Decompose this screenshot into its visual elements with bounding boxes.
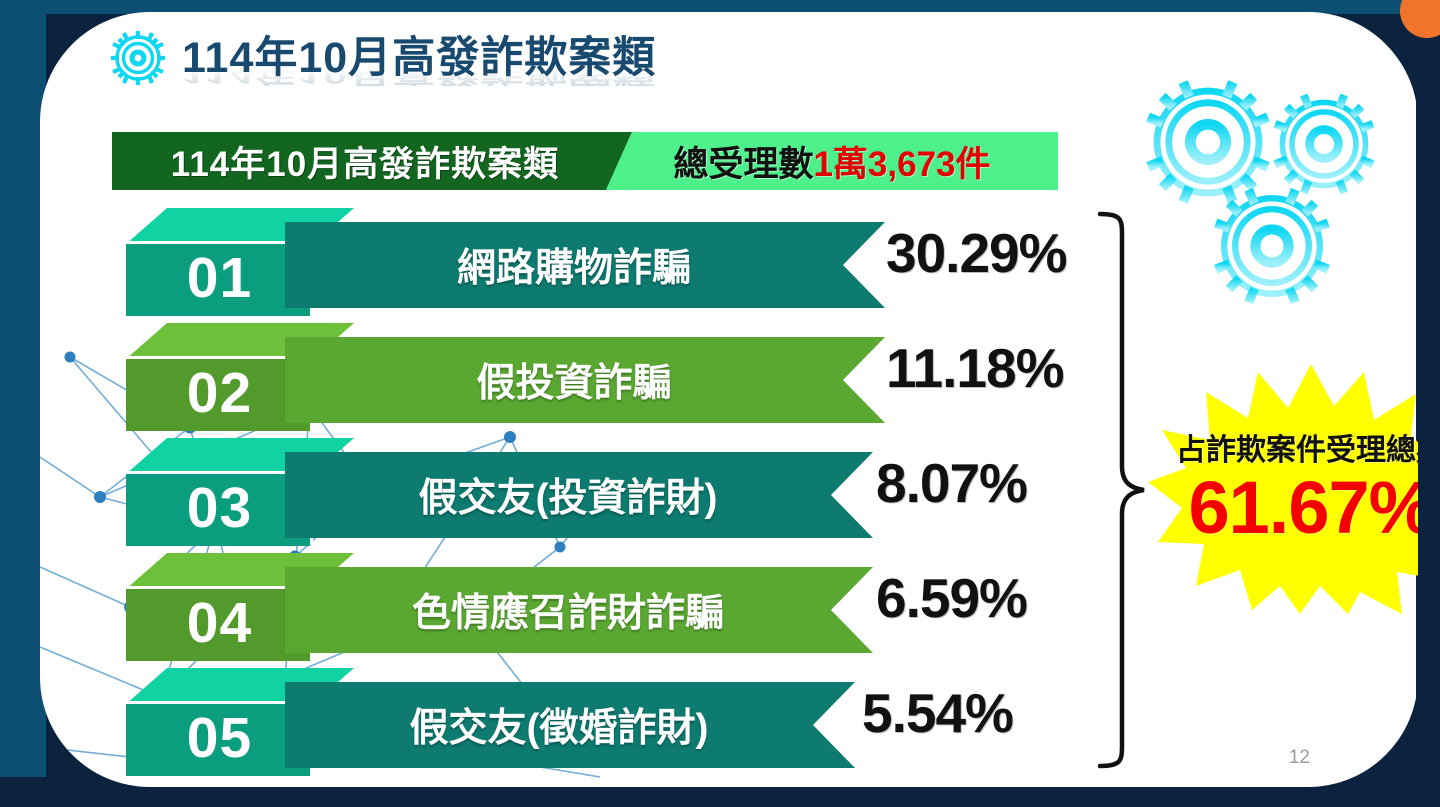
fraud-type-list: 01網路購物詐騙30.29%02假投資詐騙11.18%03假交友(投資詐財)8.… xyxy=(40,208,1160,783)
fraud-type-percent: 5.54% xyxy=(862,686,1013,741)
fraud-type-percent: 6.59% xyxy=(876,571,1027,626)
fraud-type-label: 假交友(投資詐財) xyxy=(419,467,718,523)
banner-left-label: 114年10月高發詐欺案類 xyxy=(171,136,573,187)
fraud-type-row[interactable]: 05假交友(徵婚詐財)5.54% xyxy=(40,668,1160,783)
banner-left-segment: 114年10月高發詐欺案類 xyxy=(112,132,632,190)
banner-total-label: 總受理數 xyxy=(673,136,813,187)
fraud-type-row[interactable]: 01網路購物詐騙30.29% xyxy=(40,208,1160,323)
fraud-type-label: 假投資詐騙 xyxy=(476,352,671,408)
rank-number: 03 xyxy=(126,471,313,546)
slide-card-inner: 114年10月高發詐欺案類 114年10月高發詐欺案類 114年10月高發詐欺案… xyxy=(40,12,1418,787)
summary-value: 61.67% xyxy=(1189,471,1419,545)
rank-number: 02 xyxy=(126,356,313,431)
summary-starburst: 占詐欺案件受理總數 61.67% xyxy=(1148,364,1418,614)
fraud-type-row[interactable]: 04色情應召詐財詐騙6.59% xyxy=(40,553,1160,668)
rank-number: 04 xyxy=(126,586,313,661)
fraud-type-row[interactable]: 03假交友(投資詐財)8.07% xyxy=(40,438,1160,553)
fraud-type-percent: 8.07% xyxy=(876,456,1027,511)
fraud-type-ribbon: 假交友(徵婚詐財) xyxy=(285,682,855,768)
fraud-type-label: 假交友(徵婚詐財) xyxy=(410,697,709,753)
rank-number: 01 xyxy=(126,241,313,316)
slide-root: 114年10月高發詐欺案類 114年10月高發詐欺案類 114年10月高發詐欺案… xyxy=(0,0,1440,807)
slide-card: 114年10月高發詐欺案類 114年10月高發詐欺案類 114年10月高發詐欺案… xyxy=(40,12,1418,787)
gear-icon xyxy=(108,28,168,88)
banner-right-segment: 總受理數1萬3,673件 xyxy=(606,132,1058,190)
page-header: 114年10月高發詐欺案類 xyxy=(108,28,656,88)
rank-number: 05 xyxy=(126,701,313,776)
summary-banner: 114年10月高發詐欺案類 總受理數1萬3,673件 xyxy=(112,132,1058,190)
three-gears-icon xyxy=(1126,60,1406,330)
fraud-type-label: 網路購物詐騙 xyxy=(457,237,691,293)
fraud-type-percent: 30.29% xyxy=(886,226,1067,281)
fraud-type-row[interactable]: 02假投資詐騙11.18% xyxy=(40,323,1160,438)
page-title: 114年10月高發詐欺案類 xyxy=(182,37,656,80)
fraud-type-ribbon: 假交友(投資詐財) xyxy=(285,452,873,538)
banner-total-value: 1萬3,673件 xyxy=(813,136,990,187)
fraud-type-ribbon: 色情應召詐財詐騙 xyxy=(285,567,873,653)
fraud-type-ribbon: 網路購物詐騙 xyxy=(285,222,885,308)
fraud-type-ribbon: 假投資詐騙 xyxy=(285,337,885,423)
page-number: 12 xyxy=(1289,747,1310,769)
right-border-band xyxy=(1416,0,1440,807)
fraud-type-label: 色情應召詐財詐騙 xyxy=(412,582,724,638)
summary-caption: 占詐欺案件受理總數 xyxy=(1176,425,1418,469)
fraud-type-percent: 11.18% xyxy=(886,341,1064,396)
summary-starburst-text: 占詐欺案件受理總數 61.67% xyxy=(1148,364,1418,614)
